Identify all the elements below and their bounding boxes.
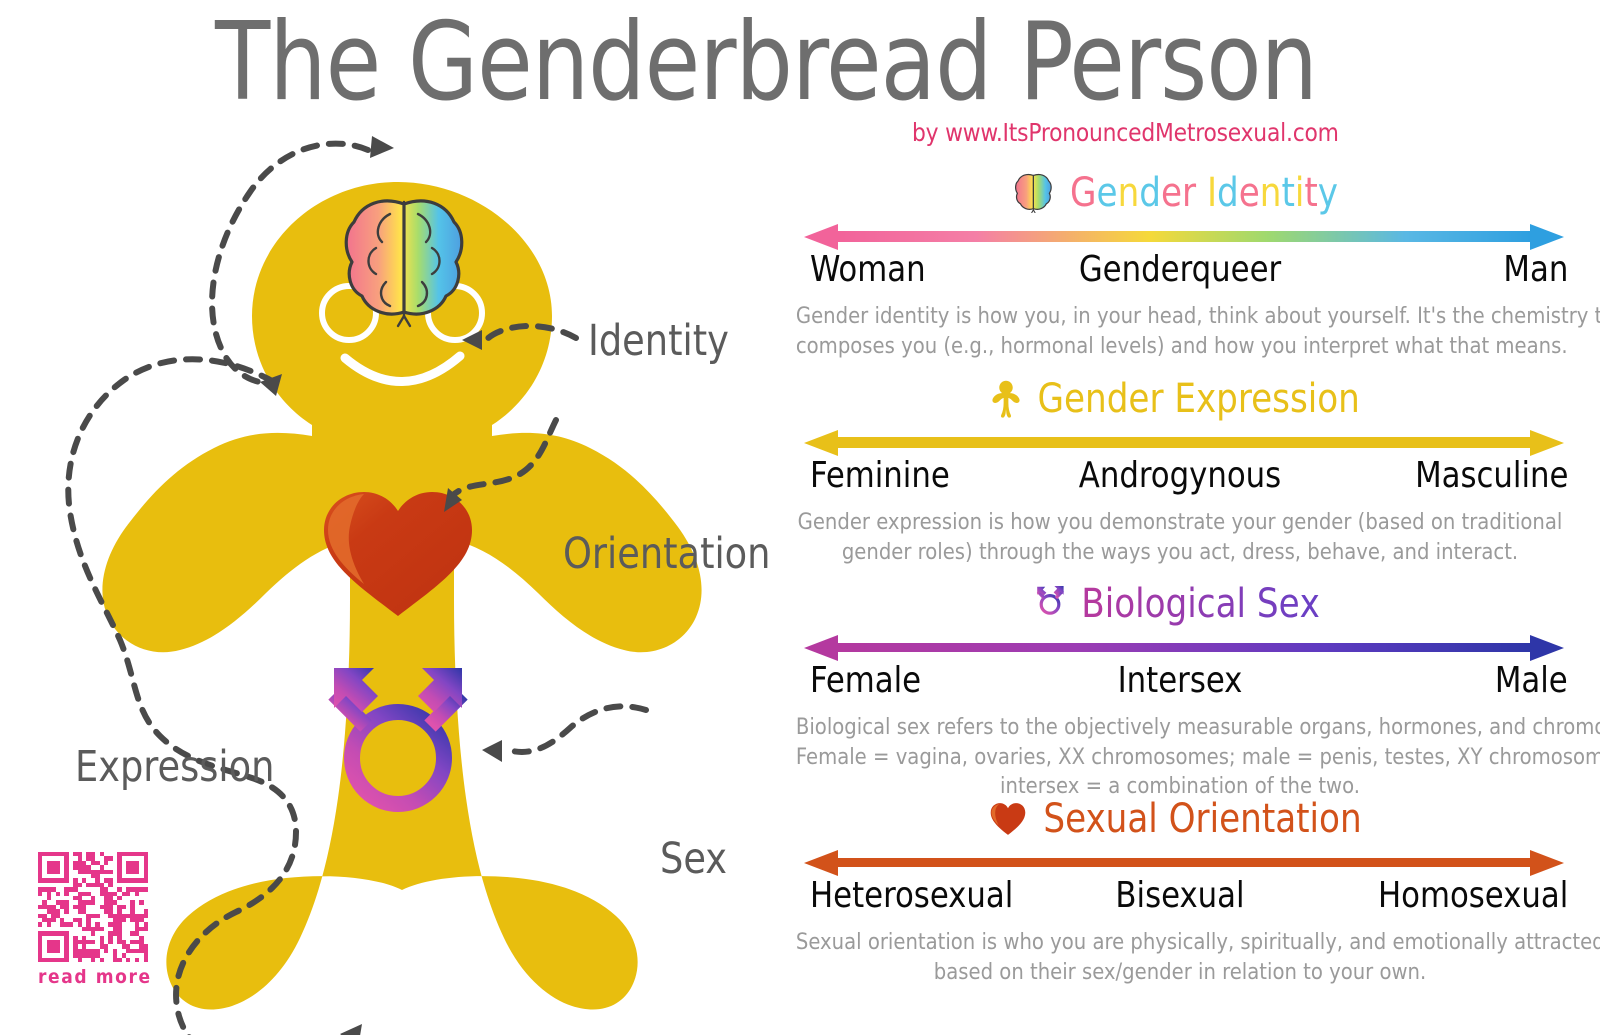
scale-biological-sex: Biological Sex — [770, 579, 1590, 794]
axis-label-mid: Bisexual — [1115, 878, 1244, 914]
callout-label-expression: Expression — [75, 742, 274, 792]
scale-heading-gender-identity: Gender Identity — [770, 168, 1590, 218]
scale-title-gender-expression: Gender Expression — [1037, 379, 1359, 419]
scale-heading-sexual-orientation: Sexual Orientation — [770, 794, 1590, 844]
axis-label-right: Homosexual — [1378, 878, 1568, 914]
scale-description-gender-identity: Gender identity is how you, in your head… — [782, 302, 1577, 361]
qr-code-block[interactable]: read more — [38, 852, 156, 988]
axis-label-left: Woman — [810, 252, 926, 288]
axis-label-right: Man — [1503, 252, 1568, 288]
qr-caption: read more — [38, 966, 156, 988]
scale-title-gender-identity: Gender Identity — [1071, 173, 1339, 213]
callout-label-identity: Identity — [588, 316, 729, 366]
scale-description-biological-sex: Biological sex refers to the objectively… — [782, 713, 1577, 802]
axis-label-mid: Androgynous — [1079, 458, 1281, 494]
scale-description-sexual-orientation: Sexual orientation is who you are physic… — [782, 928, 1577, 987]
callout-label-sex: Sex — [660, 834, 727, 884]
callout-label-orientation: Orientation — [563, 529, 770, 579]
transgender-symbol-icon — [1034, 582, 1066, 626]
axis-label-mid: Genderqueer — [1079, 252, 1281, 288]
scale-gender-identity: Gender Identity — [770, 168, 1590, 374]
scale-sexual-orientation: Sexual Orientation Heterosexual Bisexual… — [770, 794, 1590, 994]
scale-heading-biological-sex: Biological Sex — [770, 579, 1590, 629]
axis-label-mid: Intersex — [1118, 663, 1243, 699]
scale-heading-gender-expression: Gender Expression — [770, 374, 1590, 424]
callout-arrow-expression — [340, 1024, 362, 1035]
axis-labels-sexual-orientation: Heterosexual Bisexual Homosexual — [770, 878, 1590, 922]
byline-credit: by www.ItsPronouncedMetrosexual.com — [912, 118, 1339, 147]
axis-label-right: Masculine — [1415, 458, 1568, 494]
heart-icon — [990, 802, 1026, 836]
scale-title-biological-sex: Biological Sex — [1081, 584, 1320, 624]
axis-label-left: Heterosexual — [810, 878, 1013, 914]
axis-label-left: Feminine — [810, 458, 950, 494]
axis-labels-gender-expression: Feminine Androgynous Masculine — [770, 458, 1590, 502]
callout-line-sex — [508, 706, 646, 752]
gingerbread-person-icon — [992, 380, 1020, 418]
axis-labels-biological-sex: Female Intersex Male — [770, 663, 1590, 707]
callout-arrow-identity-top — [370, 136, 394, 158]
scale-title-sexual-orientation: Sexual Orientation — [1043, 799, 1361, 839]
callout-arrow-sex — [482, 740, 502, 762]
page-title: The Genderbread Person — [215, 6, 1331, 119]
axis-labels-gender-identity: Woman Genderqueer Man — [770, 252, 1590, 296]
axis-label-left: Female — [810, 663, 921, 699]
scale-description-gender-expression: Gender expression is how you demonstrate… — [782, 508, 1577, 567]
brain-icon — [1014, 173, 1054, 213]
infographic-canvas: The Genderbread Person by www.ItsPronoun… — [0, 0, 1600, 1035]
axis-label-right: Male — [1495, 663, 1568, 699]
spectrum-scales: Gender Identity — [770, 168, 1590, 1028]
qr-code-image[interactable] — [38, 852, 148, 962]
scale-gender-expression: Gender Expression Feminine Androgynous M… — [770, 374, 1590, 579]
